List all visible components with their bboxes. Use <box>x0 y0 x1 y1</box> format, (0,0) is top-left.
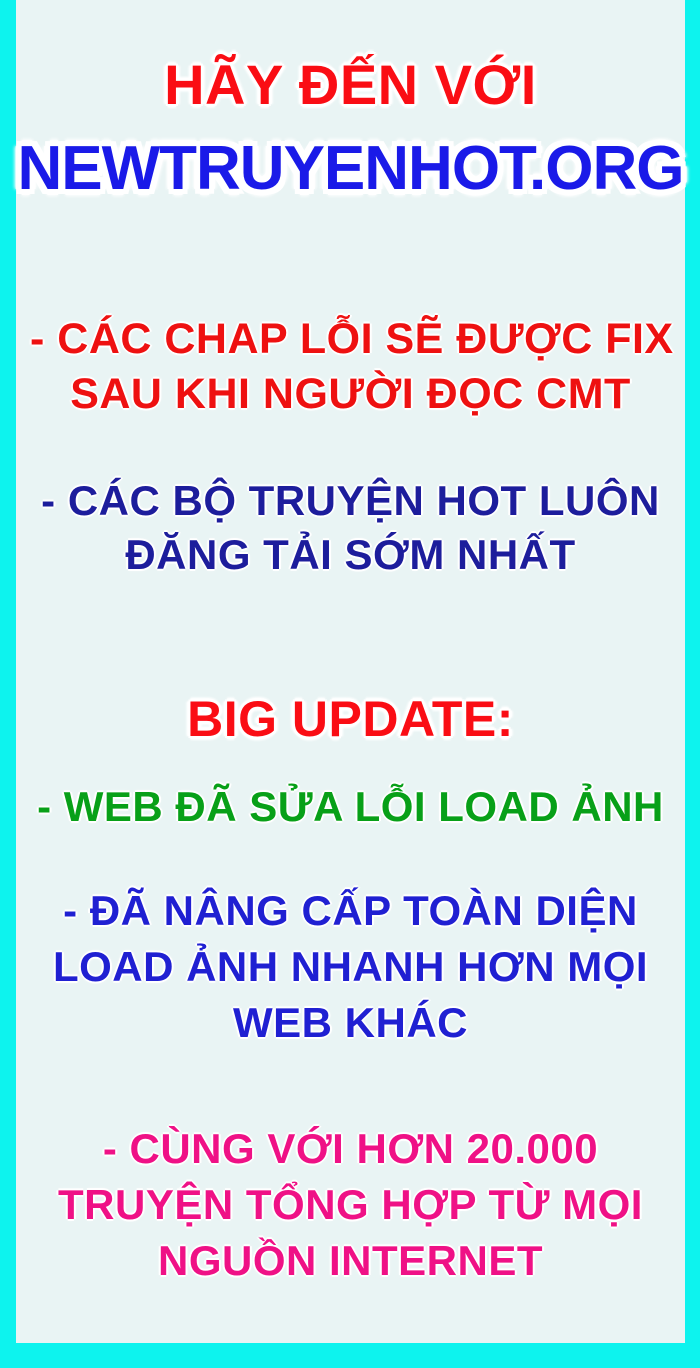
chapter-fix-notice-line-1: - CÁC CHAP LỖI SẼ ĐƯỢC FIX <box>30 318 671 361</box>
image-load-fix-item: - WEB ĐÃ SỬA LỖI LOAD ẢNH <box>30 786 671 828</box>
image-load-fix-line-1: - WEB ĐÃ SỬA LỖI LOAD ẢNH <box>30 786 671 828</box>
full-upgrade-line-2: LOAD ẢNH NHANH HƠN MỌI <box>30 946 671 988</box>
invite-heading: HÃY ĐẾN VỚI <box>30 57 671 113</box>
full-upgrade-line-1: - ĐÃ NÂNG CẤP TOÀN DIỆN <box>30 890 671 932</box>
hot-series-notice-line-2: ĐĂNG TẢI SỚM NHẤT <box>30 534 671 576</box>
big-update-heading: BIG UPDATE: <box>30 694 671 744</box>
hot-series-notice-line-1: - CÁC BỘ TRUYỆN HOT LUÔN <box>30 480 671 522</box>
frame-strip-bottom <box>0 1343 700 1368</box>
full-upgrade-item: - ĐÃ NÂNG CẤP TOÀN DIỆN LOAD ẢNH NHANH H… <box>30 890 671 1044</box>
story-count-line-1: - CÙNG VỚI HƠN 20.000 <box>30 1128 671 1170</box>
site-url-heading[interactable]: NEWTRUYENHOT.ORG <box>16 138 685 200</box>
story-count-item: - CÙNG VỚI HƠN 20.000 TRUYỆN TỔNG HỢP TỪ… <box>30 1128 671 1282</box>
full-upgrade-line-3: WEB KHÁC <box>30 1002 671 1044</box>
chapter-fix-notice: - CÁC CHAP LỖI SẼ ĐƯỢC FIX SAU KHI NGƯỜI… <box>30 318 671 416</box>
story-count-line-2: TRUYỆN TỔNG HỢP TỪ MỌI <box>30 1184 671 1226</box>
announcement-banner: HÃY ĐẾN VỚI NEWTRUYENHOT.ORG - CÁC CHAP … <box>0 0 700 1368</box>
frame-strip-left <box>0 0 16 1368</box>
chapter-fix-notice-line-2: SAU KHI NGƯỜI ĐỌC CMT <box>30 373 671 416</box>
story-count-line-3: NGUỒN INTERNET <box>30 1240 671 1282</box>
frame-strip-right <box>685 0 700 1368</box>
banner-content: HÃY ĐẾN VỚI NEWTRUYENHOT.ORG - CÁC CHAP … <box>16 0 685 1343</box>
hot-series-notice: - CÁC BỘ TRUYỆN HOT LUÔN ĐĂNG TẢI SỚM NH… <box>30 480 671 576</box>
